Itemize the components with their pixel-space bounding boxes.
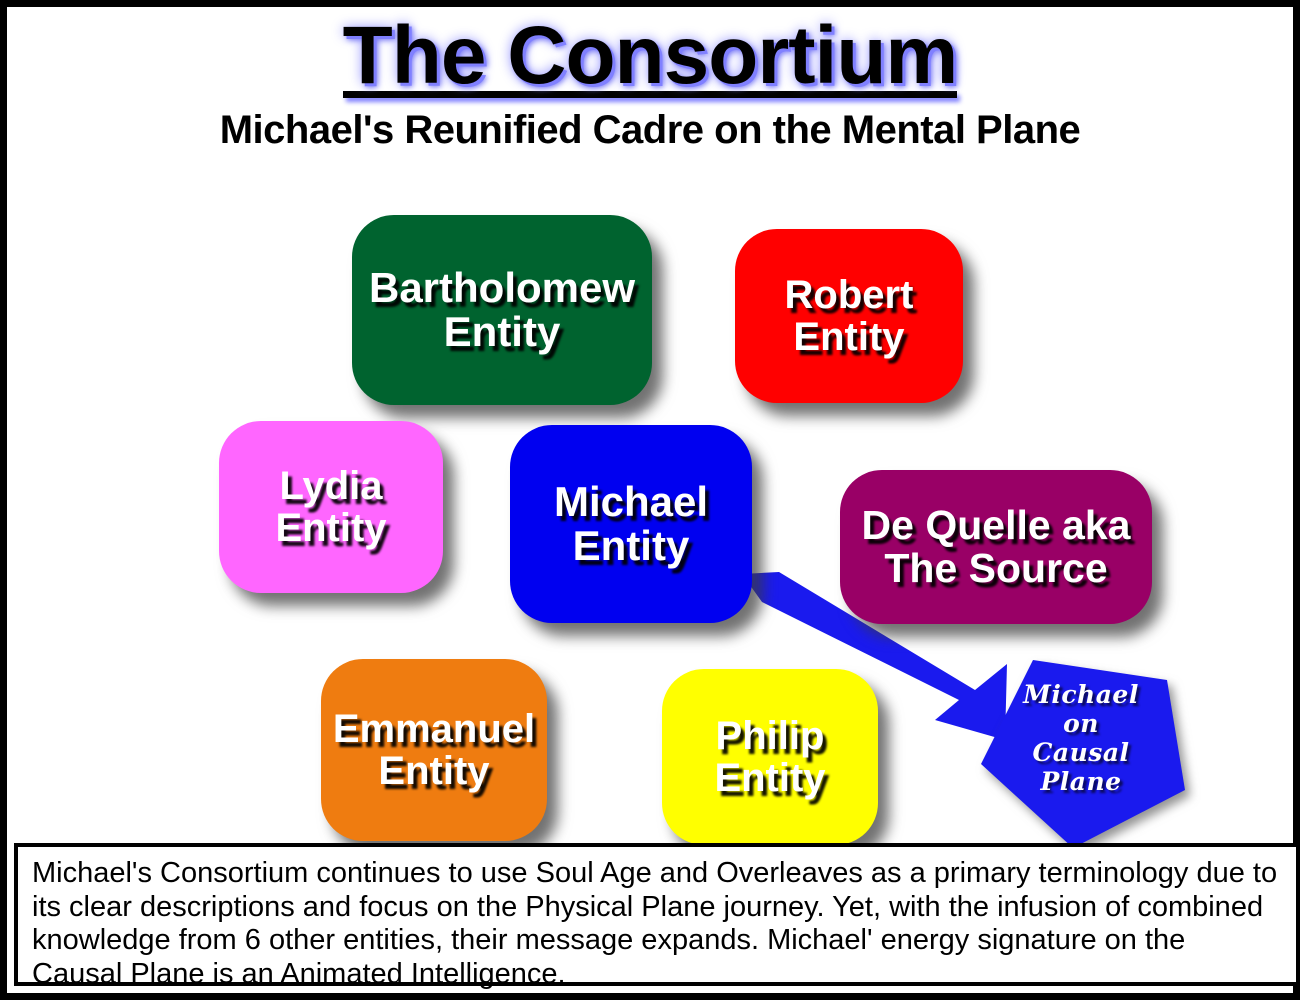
node-lydia-entity[interactable]: Lydia Entity [219, 421, 443, 593]
node-michael-on-causal-plane[interactable]: Michael on Causal Plane [975, 652, 1187, 850]
node-label: Lydia Entity [265, 465, 396, 549]
node-label: Bartholomew Entity [359, 266, 645, 354]
node-label: Michael on Causal Plane [997, 680, 1165, 796]
node-label: Emmanuel Entity [323, 708, 545, 792]
node-label: Michael Entity [544, 480, 718, 568]
node-label: De Quelle aka The Source [852, 504, 1141, 590]
poster-frame: The Consortium Michael's Reunified Cadre… [0, 0, 1300, 1000]
node-label: Philip Entity [704, 715, 835, 799]
node-label: Robert Entity [775, 274, 924, 358]
node-bartholomew-entity[interactable]: Bartholomew Entity [352, 215, 652, 405]
caption-box: Michael's Consortium continues to use So… [14, 843, 1300, 986]
diagram-canvas: Bartholomew Entity Robert Entity Lydia E… [7, 7, 1293, 852]
node-de-quelle-the-source[interactable]: De Quelle aka The Source [840, 470, 1152, 624]
node-michael-entity[interactable]: Michael Entity [510, 425, 752, 623]
caption-text: Michael's Consortium continues to use So… [32, 857, 1282, 992]
node-emmanuel-entity[interactable]: Emmanuel Entity [321, 659, 547, 841]
node-robert-entity[interactable]: Robert Entity [735, 229, 963, 403]
node-philip-entity[interactable]: Philip Entity [662, 669, 878, 845]
